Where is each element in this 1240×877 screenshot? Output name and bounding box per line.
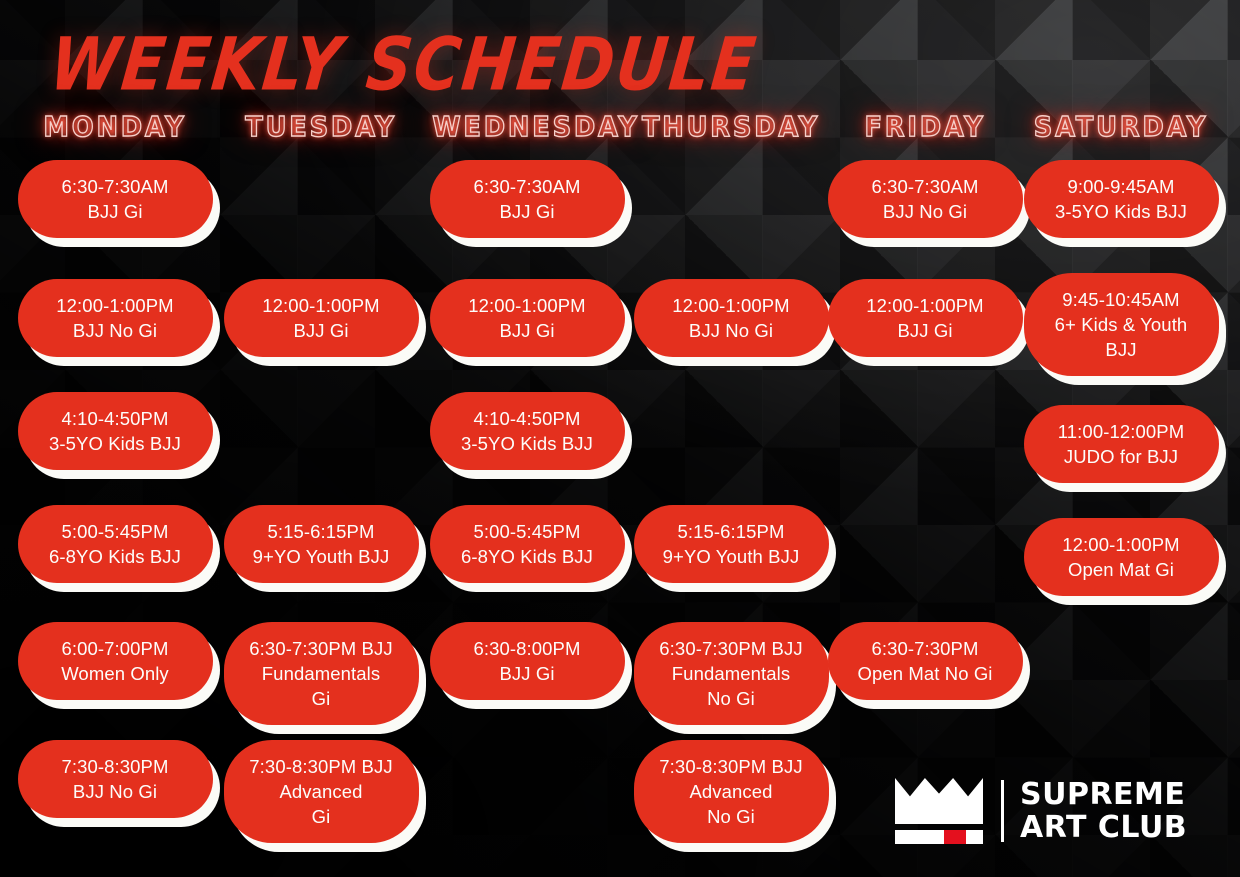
card-time: 12:00-1:00PM xyxy=(234,293,409,318)
schedule-card[interactable]: 6:30-7:30PM Open Mat No Gi xyxy=(828,622,1023,700)
day-header-friday: FRIDAY xyxy=(830,110,1020,144)
card-line2: BJJ No Gi xyxy=(28,318,203,343)
schedule-card-slot[interactable]: 5:15-6:15PM 9+YO Youth BJJ xyxy=(628,505,834,583)
schedule-card[interactable]: 6:30-7:30AM BJJ No Gi xyxy=(828,160,1023,238)
schedule-card-slot[interactable]: 5:00-5:45PM 6-8YO Kids BJJ xyxy=(12,505,218,583)
crown-jewel xyxy=(944,830,966,844)
schedule-card[interactable]: 4:10-4:50PM 3-5YO Kids BJJ xyxy=(430,392,625,470)
card-line2: Fundamentals xyxy=(644,661,819,686)
card-line2: 3-5YO Kids BJJ xyxy=(28,431,203,456)
schedule-card[interactable]: 5:00-5:45PM 6-8YO Kids BJJ xyxy=(18,505,213,583)
schedule-card-slot[interactable]: 12:00-1:00PM Open Mat Gi xyxy=(1018,518,1224,596)
card-line3: Gi xyxy=(234,804,409,829)
card-line3: Gi xyxy=(234,686,409,711)
card-time: 5:00-5:45PM xyxy=(440,519,615,544)
crown-peaks xyxy=(895,778,983,824)
card-time: 5:15-6:15PM xyxy=(234,519,409,544)
card-line2: 6+ Kids & Youth xyxy=(1034,312,1209,337)
day-header-monday: MONDAY xyxy=(20,110,210,144)
card-line2: Women Only xyxy=(28,661,203,686)
schedule-card[interactable]: 7:30-8:30PM BJJ No Gi xyxy=(18,740,213,818)
schedule-card-slot[interactable]: 4:10-4:50PM 3-5YO Kids BJJ xyxy=(12,392,218,470)
schedule-card-slot[interactable]: 6:30-7:30PM BJJ Fundamentals Gi xyxy=(218,622,424,725)
day-header-saturday: SATURDAY xyxy=(1026,110,1216,144)
card-line2: 6-8YO Kids BJJ xyxy=(440,544,615,569)
logo-line-2: ART CLUB xyxy=(1020,811,1187,844)
schedule-card[interactable]: 11:00-12:00PM JUDO for BJJ xyxy=(1024,405,1219,483)
schedule-card[interactable]: 5:15-6:15PM 9+YO Youth BJJ xyxy=(634,505,829,583)
schedule-card-slot[interactable]: 6:30-7:30AM BJJ Gi xyxy=(424,160,630,238)
card-line2: BJJ Gi xyxy=(440,661,615,686)
schedule-card-slot[interactable]: 4:10-4:50PM 3-5YO Kids BJJ xyxy=(424,392,630,470)
card-line2: BJJ Gi xyxy=(838,318,1013,343)
schedule-card[interactable]: 12:00-1:00PM BJJ No Gi xyxy=(18,279,213,357)
schedule-card-slot[interactable]: 6:30-8:00PM BJJ Gi xyxy=(424,622,630,700)
brand-logo: SUPREME ART CLUB xyxy=(895,775,1187,847)
card-line2: Advanced xyxy=(644,779,819,804)
schedule-card-slot[interactable]: 9:00-9:45AM 3-5YO Kids BJJ xyxy=(1018,160,1224,238)
card-time: 6:30-7:30AM xyxy=(28,174,203,199)
card-time: 6:00-7:00PM xyxy=(28,636,203,661)
card-line2: BJJ No Gi xyxy=(28,779,203,804)
crown-icon xyxy=(895,778,983,844)
schedule-card[interactable]: 6:30-7:30AM BJJ Gi xyxy=(430,160,625,238)
card-time: 5:15-6:15PM xyxy=(644,519,819,544)
schedule-card[interactable]: 6:30-7:30PM BJJ Fundamentals No Gi xyxy=(634,622,829,725)
card-time: 6:30-7:30AM xyxy=(440,174,615,199)
card-time: 4:10-4:50PM xyxy=(28,406,203,431)
card-line3: BJJ xyxy=(1034,337,1209,362)
schedule-card[interactable]: 9:00-9:45AM 3-5YO Kids BJJ xyxy=(1024,160,1219,238)
schedule-card-slot[interactable]: 5:15-6:15PM 9+YO Youth BJJ xyxy=(218,505,424,583)
card-time: 12:00-1:00PM xyxy=(838,293,1013,318)
schedule-card-slot[interactable]: 6:00-7:00PM Women Only xyxy=(12,622,218,700)
card-time: 12:00-1:00PM xyxy=(28,293,203,318)
card-time: 12:00-1:00PM xyxy=(440,293,615,318)
schedule-card-slot[interactable]: 11:00-12:00PM JUDO for BJJ xyxy=(1018,405,1224,483)
card-time: 6:30-7:30PM xyxy=(838,636,1013,661)
schedule-card-slot[interactable]: 7:30-8:30PM BJJ No Gi xyxy=(12,740,218,818)
card-time: 7:30-8:30PM BJJ xyxy=(644,754,819,779)
page-title: WEEKLY SCHEDULE xyxy=(46,22,761,107)
schedule-card[interactable]: 6:30-7:30AM BJJ Gi xyxy=(18,160,213,238)
card-line2: 3-5YO Kids BJJ xyxy=(1034,199,1209,224)
schedule-card-slot[interactable]: 7:30-8:30PM BJJ Advanced No Gi xyxy=(628,740,834,843)
day-header-wednesday: WEDNESDAY xyxy=(432,110,622,144)
crown-band xyxy=(895,830,983,844)
schedule-card-slot[interactable]: 12:00-1:00PM BJJ Gi xyxy=(218,279,424,357)
schedule-card[interactable]: 12:00-1:00PM BJJ Gi xyxy=(828,279,1023,357)
schedule-card[interactable]: 7:30-8:30PM BJJ Advanced Gi xyxy=(224,740,419,843)
card-line2: BJJ No Gi xyxy=(644,318,819,343)
card-line2: JUDO for BJJ xyxy=(1034,444,1209,469)
card-line3: No Gi xyxy=(644,804,819,829)
schedule-card-slot[interactable]: 7:30-8:30PM BJJ Advanced Gi xyxy=(218,740,424,843)
schedule-card[interactable]: 6:30-8:00PM BJJ Gi xyxy=(430,622,625,700)
card-line2: 6-8YO Kids BJJ xyxy=(28,544,203,569)
schedule-card-slot[interactable]: 12:00-1:00PM BJJ No Gi xyxy=(12,279,218,357)
card-time: 12:00-1:00PM xyxy=(644,293,819,318)
card-time: 12:00-1:00PM xyxy=(1034,532,1209,557)
schedule-card-slot[interactable]: 9:45-10:45AM 6+ Kids & Youth BJJ xyxy=(1018,273,1224,376)
logo-line-1: SUPREME xyxy=(1020,777,1185,812)
card-time: 11:00-12:00PM xyxy=(1034,419,1209,444)
card-line2: BJJ Gi xyxy=(28,199,203,224)
card-time: 9:45-10:45AM xyxy=(1034,287,1209,312)
schedule-card[interactable]: 12:00-1:00PM BJJ Gi xyxy=(430,279,625,357)
day-header-row: MONDAY TUESDAY WEDNESDAY THURSDAY FRIDAY… xyxy=(0,110,1240,148)
day-header-thursday: THURSDAY xyxy=(636,110,826,144)
schedule-card-slot[interactable]: 6:30-7:30AM BJJ No Gi xyxy=(822,160,1028,238)
schedule-card-slot[interactable]: 12:00-1:00PM BJJ No Gi xyxy=(628,279,834,357)
card-line2: Fundamentals xyxy=(234,661,409,686)
card-line3: No Gi xyxy=(644,686,819,711)
schedule-card[interactable]: 12:00-1:00PM BJJ No Gi xyxy=(634,279,829,357)
schedule-card[interactable]: 5:15-6:15PM 9+YO Youth BJJ xyxy=(224,505,419,583)
card-time: 6:30-7:30PM BJJ xyxy=(234,636,409,661)
card-line2: 9+YO Youth BJJ xyxy=(234,544,409,569)
schedule-card[interactable]: 6:00-7:00PM Women Only xyxy=(18,622,213,700)
schedule-card[interactable]: 4:10-4:50PM 3-5YO Kids BJJ xyxy=(18,392,213,470)
day-header-tuesday: TUESDAY xyxy=(226,110,416,144)
card-line2: BJJ Gi xyxy=(440,318,615,343)
schedule-card[interactable]: 7:30-8:30PM BJJ Advanced No Gi xyxy=(634,740,829,843)
schedule-card-slot[interactable]: 6:30-7:30PM Open Mat No Gi xyxy=(822,622,1028,700)
logo-divider xyxy=(1001,780,1004,842)
card-line2: Advanced xyxy=(234,779,409,804)
schedule-card-slot[interactable]: 6:30-7:30PM BJJ Fundamentals No Gi xyxy=(628,622,834,725)
schedule-card[interactable]: 5:00-5:45PM 6-8YO Kids BJJ xyxy=(430,505,625,583)
schedule-card[interactable]: 12:00-1:00PM BJJ Gi xyxy=(224,279,419,357)
card-line2: 3-5YO Kids BJJ xyxy=(440,431,615,456)
schedule-card-slot[interactable]: 6:30-7:30AM BJJ Gi xyxy=(12,160,218,238)
schedule-card[interactable]: 6:30-7:30PM BJJ Fundamentals Gi xyxy=(224,622,419,725)
card-line2: BJJ No Gi xyxy=(838,199,1013,224)
schedule-card-slot[interactable]: 12:00-1:00PM BJJ Gi xyxy=(424,279,630,357)
card-line2: BJJ Gi xyxy=(234,318,409,343)
card-line2: Open Mat Gi xyxy=(1034,557,1209,582)
card-time: 4:10-4:50PM xyxy=(440,406,615,431)
card-time: 6:30-7:30PM BJJ xyxy=(644,636,819,661)
logo-wordmark: SUPREME ART CLUB xyxy=(1020,778,1187,844)
schedule-card[interactable]: 9:45-10:45AM 6+ Kids & Youth BJJ xyxy=(1024,273,1219,376)
schedule-card-slot[interactable]: 5:00-5:45PM 6-8YO Kids BJJ xyxy=(424,505,630,583)
card-time: 7:30-8:30PM xyxy=(28,754,203,779)
card-time: 7:30-8:30PM BJJ xyxy=(234,754,409,779)
card-time: 9:00-9:45AM xyxy=(1034,174,1209,199)
weekly-schedule-poster: WEEKLY SCHEDULE MONDAY TUESDAY WEDNESDAY… xyxy=(0,0,1240,877)
poster-content: WEEKLY SCHEDULE MONDAY TUESDAY WEDNESDAY… xyxy=(0,0,1240,877)
card-time: 5:00-5:45PM xyxy=(28,519,203,544)
card-line2: BJJ Gi xyxy=(440,199,615,224)
schedule-card[interactable]: 12:00-1:00PM Open Mat Gi xyxy=(1024,518,1219,596)
schedule-card-slot[interactable]: 12:00-1:00PM BJJ Gi xyxy=(822,279,1028,357)
card-time: 6:30-8:00PM xyxy=(440,636,615,661)
card-time: 6:30-7:30AM xyxy=(838,174,1013,199)
card-line2: Open Mat No Gi xyxy=(838,661,1013,686)
card-line2: 9+YO Youth BJJ xyxy=(644,544,819,569)
